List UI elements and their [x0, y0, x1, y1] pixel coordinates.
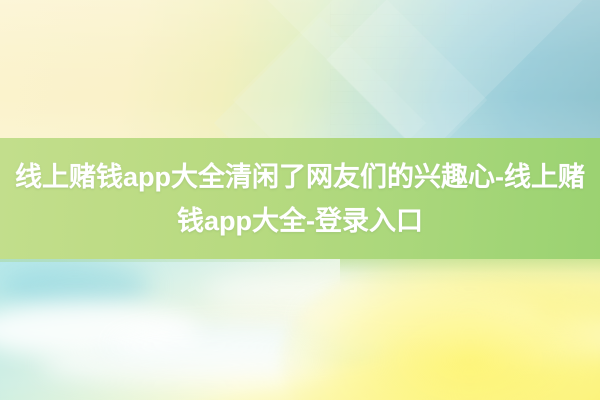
title-banner: 线上赌钱app大全清闲了网友们的兴趣心-线上赌钱app大全-登录入口: [0, 138, 600, 259]
top-gradient-region: [0, 0, 600, 139]
banner-canvas: 线上赌钱app大全清闲了网友们的兴趣心-线上赌钱app大全-登录入口: [0, 0, 600, 400]
bottom-sky-region: [0, 259, 600, 400]
banner-green-bleed: [340, 259, 600, 285]
banner-underline-tint: [0, 259, 340, 262]
banner-title: 线上赌钱app大全清闲了网友们的兴趣心-线上赌钱app大全-登录入口: [6, 155, 594, 243]
ghost-grid-texture: [330, 4, 540, 136]
